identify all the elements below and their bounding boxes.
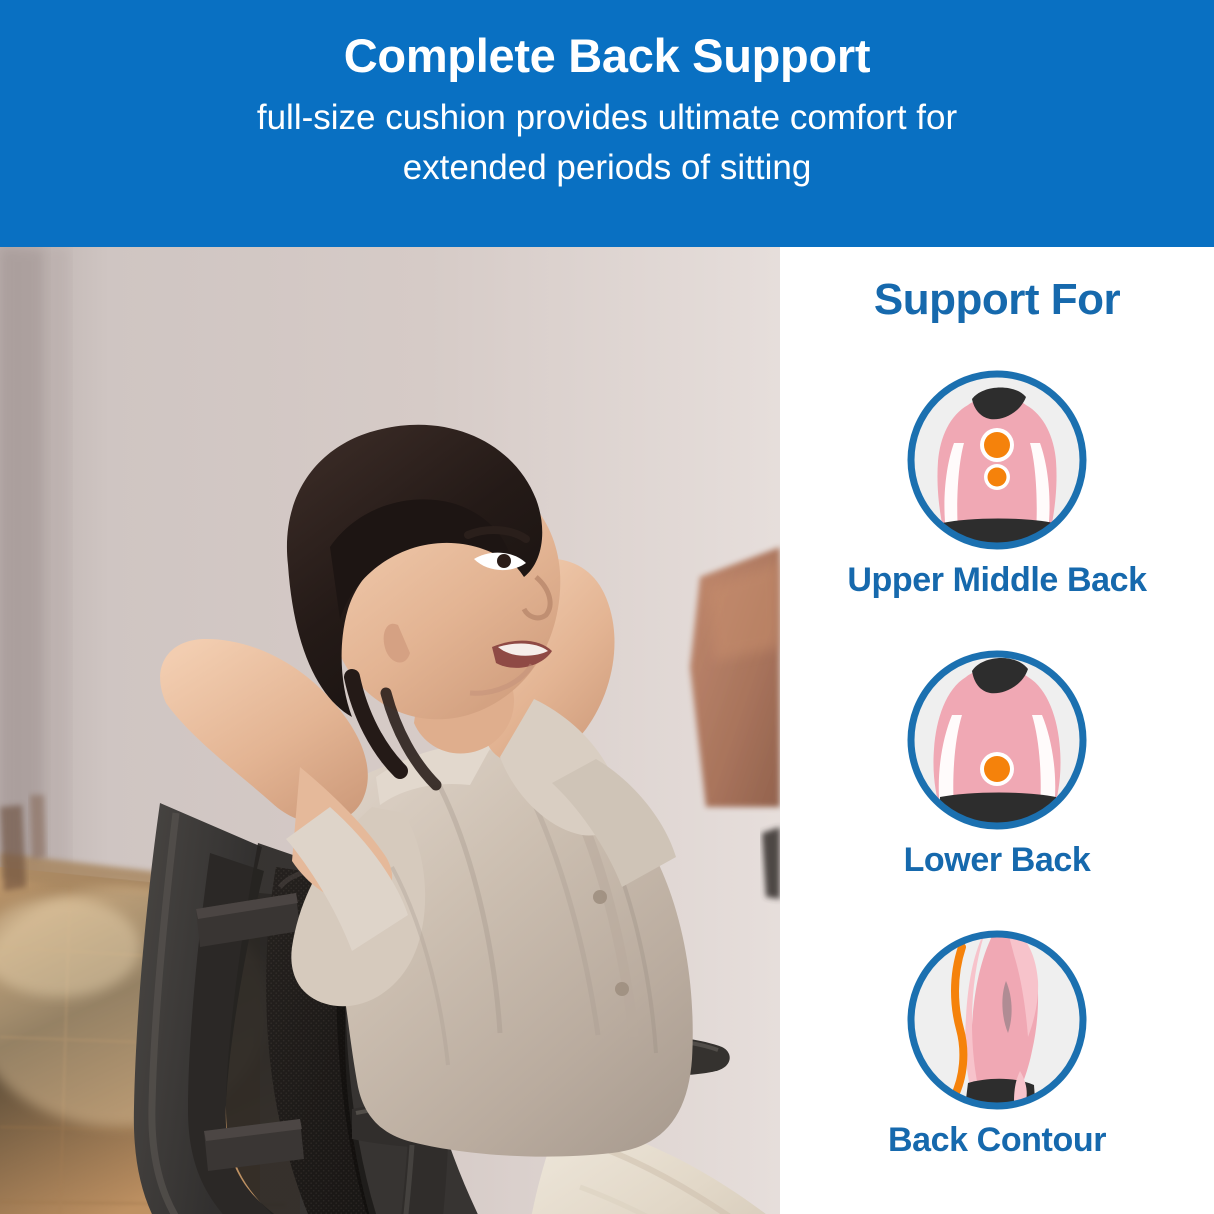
header-banner: Complete Back Support full-size cushion …: [0, 0, 1214, 247]
back-contour-icon: [902, 925, 1092, 1115]
support-for-heading: Support For: [780, 275, 1214, 325]
feature-upper-middle-back: Upper Middle Back: [780, 365, 1214, 600]
product-lifestyle-photo: [0, 247, 780, 1214]
feature-label-lower-back: Lower Back: [780, 841, 1214, 880]
upper-middle-back-icon: [902, 365, 1092, 555]
banner-subtitle-line-2: extended periods of sitting: [403, 143, 812, 193]
product-infographic: Complete Back Support full-size cushion …: [0, 0, 1214, 1214]
photo-illustration: [0, 247, 780, 1214]
feature-back-contour: Back Contour: [780, 925, 1214, 1160]
lower-back-icon: [902, 645, 1092, 835]
support-for-panel: Support For: [780, 247, 1214, 1214]
feature-lower-back: Lower Back: [780, 645, 1214, 880]
feature-label-upper-middle-back: Upper Middle Back: [780, 561, 1214, 600]
banner-subtitle-line-1: full-size cushion provides ultimate comf…: [257, 93, 957, 143]
feature-label-back-contour: Back Contour: [780, 1121, 1214, 1160]
banner-title: Complete Back Support: [344, 32, 870, 79]
